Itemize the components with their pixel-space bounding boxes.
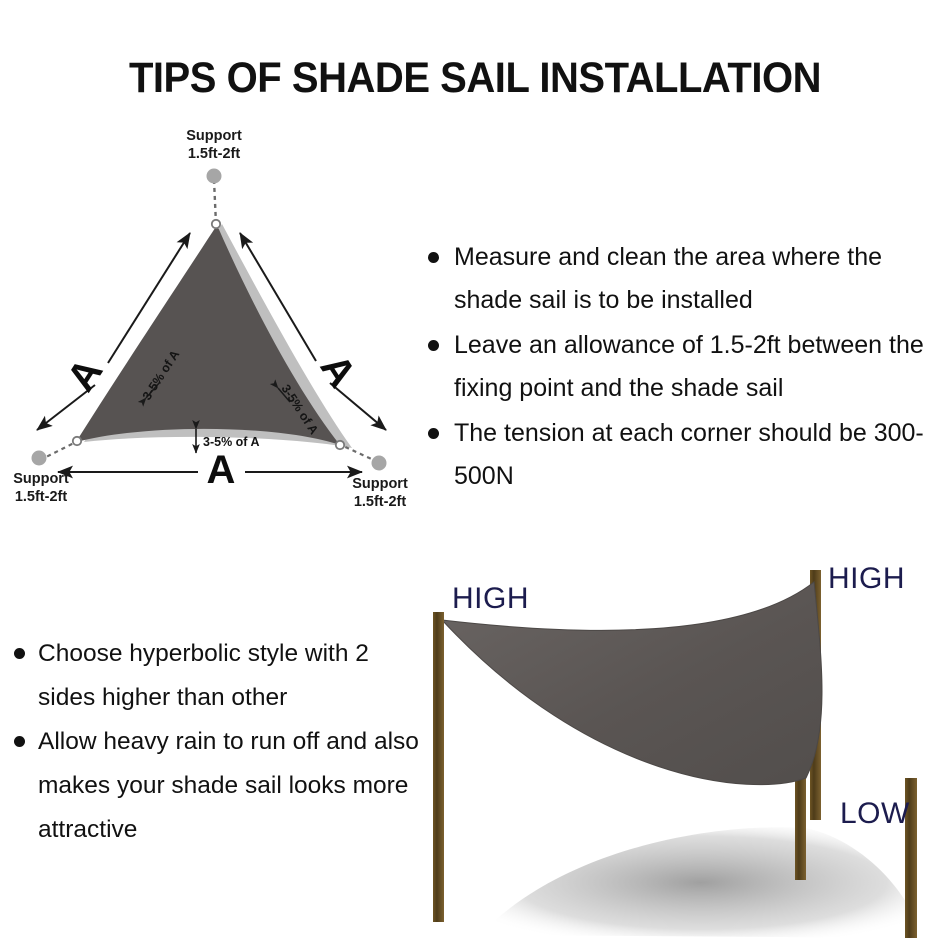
list-item-text: Allow heavy rain to run off and also mak… xyxy=(38,728,419,843)
dimension-arrow-right-down xyxy=(330,383,386,430)
corner-ring-bottom-right xyxy=(336,441,344,449)
support-label-top: Support 1.5ft-2ft xyxy=(186,128,242,162)
list-item: Choose hyperbolic style with 2 sides hig… xyxy=(8,632,420,720)
dimension-label-bottom-A: A xyxy=(207,448,236,492)
installation-tips-panel: Measure and clean the area where the sha… xyxy=(424,236,950,498)
label-high-right: HIGH xyxy=(828,562,905,595)
dimension-label-left-A: A xyxy=(59,351,112,399)
list-item: Leave an allowance of 1.5-2ft between th… xyxy=(424,324,950,410)
hyperbolic-sail-diagram: HIGH HIGH LOW xyxy=(410,540,950,950)
dimension-label-right-A: A xyxy=(312,347,365,395)
triangle-diagram-svg: Support 1.5ft-2ft Support 1.5ft-2ft Supp… xyxy=(0,120,430,520)
label-low-right: LOW xyxy=(840,797,910,830)
hyperbolic-tips-panel: Choose hyperbolic style with 2 sides hig… xyxy=(8,632,420,860)
bullet-dot-icon xyxy=(428,252,439,263)
label-high-left: HIGH xyxy=(452,582,529,615)
support-dot-bottom-left xyxy=(32,451,47,466)
list-item-text: Choose hyperbolic style with 2 sides hig… xyxy=(38,640,369,711)
sag-label-bottom: 3-5% of A xyxy=(203,435,260,449)
support-label-top-title: Support xyxy=(186,128,242,144)
bullet-dot-icon xyxy=(14,648,25,659)
list-item: The tension at each corner should be 300… xyxy=(424,412,950,498)
list-item-text: Leave an allowance of 1.5-2ft between th… xyxy=(454,331,924,402)
page-root: TIPS OF SHADE SAIL INSTALLATION xyxy=(0,0,950,950)
hyperbolic-sail-svg: HIGH HIGH LOW xyxy=(410,540,950,950)
support-label-bottom-right: Support 1.5ft-2ft xyxy=(352,476,408,510)
support-label-bottom-left: Support 1.5ft-2ft xyxy=(13,471,69,505)
section-divider xyxy=(0,534,950,535)
corner-ring-top xyxy=(212,220,220,228)
hyperbolic-tips-list: Choose hyperbolic style with 2 sides hig… xyxy=(8,632,420,852)
corner-ring-bottom-left xyxy=(73,437,81,445)
support-label-br-sub: 1.5ft-2ft xyxy=(354,494,407,510)
support-label-br-title: Support xyxy=(352,476,408,492)
support-label-top-sub: 1.5ft-2ft xyxy=(188,146,241,162)
ground-shadow xyxy=(480,827,922,938)
post-middle xyxy=(795,770,806,880)
bullet-dot-icon xyxy=(14,736,25,747)
support-label-bl-sub: 1.5ft-2ft xyxy=(15,489,68,505)
list-item-text: The tension at each corner should be 300… xyxy=(454,419,924,490)
support-dot-bottom-right xyxy=(372,456,387,471)
support-label-bl-title: Support xyxy=(13,471,69,487)
list-item: Measure and clean the area where the sha… xyxy=(424,236,950,322)
installation-tips-list: Measure and clean the area where the sha… xyxy=(424,236,950,498)
triangle-measurement-diagram: Support 1.5ft-2ft Support 1.5ft-2ft Supp… xyxy=(0,120,430,520)
post-high-left xyxy=(433,612,444,922)
bullet-dot-icon xyxy=(428,428,439,439)
support-line-top xyxy=(214,180,216,224)
list-item-text: Measure and clean the area where the sha… xyxy=(454,243,882,314)
list-item: Allow heavy rain to run off and also mak… xyxy=(8,720,420,852)
support-dot-top xyxy=(207,169,222,184)
bullet-dot-icon xyxy=(428,340,439,351)
page-title: TIPS OF SHADE SAIL INSTALLATION xyxy=(33,54,917,103)
